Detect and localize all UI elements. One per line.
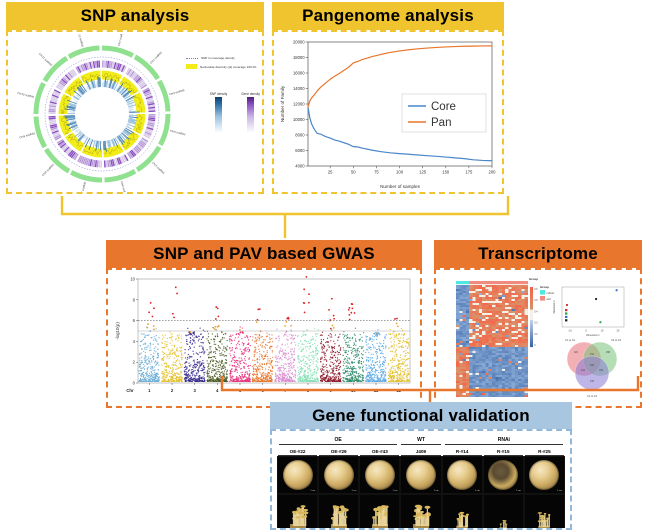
mushroom-cluster: [363, 500, 397, 530]
panel-pangenome-header: Pangenome analysis: [272, 2, 504, 30]
manhattan-svg: 0246810 -log10(p)Chr123456789101112: [112, 273, 416, 403]
svg-text:18000: 18000: [293, 55, 305, 60]
pangenome-legend: CorePan: [402, 94, 486, 132]
panel-snp-analysis: SNP analysis Chr1 scaffoldChr2 scaffoldC…: [6, 2, 264, 194]
svg-text:4: 4: [133, 339, 136, 344]
circos-legend-block-label: Nucleotide diversity (pi) coverage 100 K…: [200, 65, 256, 69]
svg-text:Chr11 scaffold: Chr11 scaffold: [38, 52, 53, 67]
svg-text:6: 6: [133, 318, 136, 323]
circos-legend-line-label: SNP in coverage density: [201, 56, 235, 60]
svg-text:200: 200: [489, 170, 497, 175]
pangenome-line-chart: 4000600080001000012000140001600018000200…: [274, 32, 502, 192]
colorbar-gene-gradient: [247, 97, 254, 133]
svg-text:6000: 6000: [295, 148, 305, 153]
svg-text:Pan: Pan: [431, 117, 451, 129]
svg-text:Chr7 scaffold: Chr7 scaffold: [79, 181, 87, 194]
validation-sample-header-row: OE-#22OE-#29OE-#43J409R-#14R-#15R-#25: [277, 445, 565, 456]
panel-gwas-header: SNP and PAV based GWAS: [106, 240, 422, 268]
circos-legend-line-row: SNP in coverage density: [186, 56, 258, 60]
mushroom-cluster: [486, 500, 520, 530]
validation-fruitbody-photo: 1 cm: [318, 494, 359, 530]
validation-plate-photo: 1 cm: [524, 456, 565, 494]
validation-group-oe: OE: [279, 437, 397, 445]
validation-group-rnai: RNAi: [445, 437, 563, 445]
validation-fruitbody-row: 1 cm1 cm1 cm1 cm1 cm1 cm1 cm: [277, 494, 565, 530]
svg-text:12000: 12000: [293, 102, 305, 107]
scale-bar-label: 1 cm: [557, 528, 562, 530]
svg-text:25: 25: [328, 170, 333, 175]
svg-text:6: 6: [261, 388, 264, 393]
svg-text:3: 3: [193, 388, 196, 393]
svg-text:Chr: Chr: [126, 388, 134, 393]
scale-bar-label: 1 cm: [310, 528, 315, 530]
svg-text:125: 125: [419, 170, 427, 175]
svg-text:Chr6 scaffold: Chr6 scaffold: [120, 181, 128, 194]
panel-transcriptome-header: Transcriptome: [434, 240, 642, 268]
colorbar-snp-gradient: [215, 97, 222, 133]
scale-bar-label: 1 cm: [393, 528, 398, 530]
svg-text:Number of Family: Number of Family: [280, 85, 285, 122]
svg-text:100: 100: [396, 170, 404, 175]
culture-dish: [488, 460, 518, 490]
scale-bar-label: 1 cm: [393, 490, 398, 492]
svg-text:Chr10 scaffold: Chr10 scaffold: [17, 91, 35, 99]
svg-text:50: 50: [351, 170, 356, 175]
validation-plate-photo: 1 cm: [400, 456, 441, 494]
venn-diagram: 321268154412189276533C1 vs C2C2 vs C3C1 …: [565, 339, 622, 398]
panel-pangenome-analysis: Pangenome analysis 400060008000100001200…: [272, 2, 504, 194]
svg-text:8: 8: [307, 388, 310, 393]
validation-sample-label: OE-#29: [319, 449, 358, 456]
circos-plot: Chr1 scaffoldChr2 scaffoldChr3 scaffoldC…: [16, 34, 188, 194]
circos-svg: Chr1 scaffoldChr2 scaffoldChr3 scaffoldC…: [16, 34, 188, 194]
validation-plate-photo: 1 cm: [277, 456, 318, 494]
svg-text:Chr3 scaffold: Chr3 scaffold: [169, 88, 186, 96]
validation-sample-label: R-#14: [443, 449, 482, 456]
mushroom-cluster: [322, 500, 356, 530]
panel-validation-body: OEWTRNAi OE-#22OE-#29OE-#43J409R-#14R-#1…: [270, 429, 572, 530]
validation-sample-label: OE-#22: [278, 449, 317, 456]
svg-text:10: 10: [351, 388, 356, 393]
connector-top-to-gwas: [60, 190, 510, 240]
dotted-line-icon: [186, 58, 198, 59]
panel-validation-header: Gene functional validation: [270, 402, 572, 429]
svg-text:0: 0: [133, 381, 136, 386]
scale-bar-label: 1 cm: [475, 528, 480, 530]
svg-text:1: 1: [148, 388, 151, 393]
scale-bar-label: 1 cm: [557, 490, 562, 492]
svg-text:2: 2: [171, 388, 174, 393]
svg-text:5: 5: [239, 388, 242, 393]
svg-text:Core: Core: [431, 101, 456, 113]
circos-ring-pi-diversity: [59, 71, 146, 158]
mushroom-cluster: [445, 500, 479, 530]
panel-snp-header: SNP analysis: [6, 2, 264, 30]
scale-bar-label: 1 cm: [475, 490, 480, 492]
circos-legend-block-row: Nucleotide diversity (pi) coverage 100 K…: [186, 64, 258, 69]
scale-bar-label: 1 cm: [516, 528, 521, 530]
validation-plate-photo: 1 cm: [318, 456, 359, 494]
culture-dish: [365, 460, 395, 490]
culture-dish: [283, 460, 313, 490]
svg-text:75: 75: [374, 170, 379, 175]
colorbar-snp-title: SNP density: [210, 92, 227, 96]
colorbar-gene-density: Gene density: [241, 92, 260, 133]
validation-sample-label: J409: [401, 449, 440, 456]
validation-fruitbody-photo: 1 cm: [442, 494, 483, 530]
scale-bar-label: 1 cm: [352, 490, 357, 492]
svg-text:-log10(p): -log10(p): [115, 322, 120, 340]
svg-text:8000: 8000: [295, 133, 305, 138]
svg-text:Chr5 scaffold: Chr5 scaffold: [151, 161, 166, 175]
svg-text:4: 4: [216, 388, 219, 393]
culture-dish: [447, 460, 477, 490]
validation-group-header-row: OEWTRNAi: [277, 434, 565, 445]
svg-text:7: 7: [284, 388, 287, 393]
svg-text:14000: 14000: [293, 86, 305, 91]
svg-text:Chr1 scaffold: Chr1 scaffold: [117, 34, 125, 46]
scale-bar-label: 1 cm: [352, 528, 357, 530]
culture-dish: [324, 460, 354, 490]
panel-transcriptome-body: 0.60.50.40.30.20GroupGroupcultivarwild D…: [434, 268, 642, 408]
svg-text:2: 2: [133, 360, 136, 365]
panel-gwas-body: 0246810 -log10(p)Chr123456789101112: [106, 268, 422, 408]
mushroom-cluster: [527, 500, 561, 530]
validation-sample-label: R-#25: [525, 449, 564, 456]
scatter-plot: Dimension 1Dimension 2-1001020: [553, 287, 624, 337]
scale-bar-label: 1 cm: [434, 490, 439, 492]
transcriptome-svg: 0.60.50.40.30.20GroupGroupcultivarwild D…: [440, 273, 636, 403]
svg-text:Number of samples: Number of samples: [380, 184, 421, 189]
svg-text:10: 10: [130, 277, 135, 282]
panel-gene-functional-validation: Gene functional validation OEWTRNAi OE-#…: [270, 402, 572, 530]
manhattan-plot: 0246810 -log10(p)Chr123456789101112: [112, 273, 416, 403]
mushroom-cluster: [281, 500, 315, 530]
panel-pangenome-body: 4000600080001000012000140001600018000200…: [272, 30, 504, 194]
svg-text:8: 8: [133, 297, 136, 302]
validation-fruitbody-photo: 1 cm: [277, 494, 318, 530]
panel-gwas: SNP and PAV based GWAS 0246810 -log10(p)…: [106, 240, 422, 408]
panel-transcriptome: Transcriptome 0.60.50.40.30.20GroupGroup…: [434, 240, 642, 408]
validation-plate-photo: 1 cm: [359, 456, 400, 494]
validation-group-wt: WT: [401, 437, 440, 445]
transcriptome-figures: 0.60.50.40.30.20GroupGroupcultivarwild D…: [440, 273, 636, 403]
circos-ring-ideogram: [34, 46, 171, 183]
yellow-swatch-icon: [186, 64, 197, 69]
mushroom-cluster: [404, 500, 438, 530]
svg-text:175: 175: [465, 170, 473, 175]
svg-text:20000: 20000: [293, 40, 305, 45]
scale-bar-label: 1 cm: [434, 528, 439, 530]
validation-plate-photo: 1 cm: [483, 456, 524, 494]
validation-fruitbody-photo: 1 cm: [400, 494, 441, 530]
svg-text:150: 150: [442, 170, 450, 175]
svg-text:Chr12 scaffold: Chr12 scaffold: [76, 34, 85, 48]
svg-text:9: 9: [329, 388, 332, 393]
svg-text:Chr8 scaffold: Chr8 scaffold: [41, 163, 55, 178]
validation-sample-label: OE-#43: [360, 449, 399, 456]
colorbar-gene-title: Gene density: [241, 92, 260, 96]
validation-plate-photo: 1 cm: [442, 456, 483, 494]
svg-text:Chr2 scaffold: Chr2 scaffold: [149, 50, 163, 65]
svg-text:10000: 10000: [293, 117, 305, 122]
heatmap-legend: 0.60.50.40.30.20GroupGroupcultivarwild: [529, 277, 554, 347]
circos-legend: SNP in coverage density Nucleotide diver…: [186, 56, 258, 73]
validation-grid: OEWTRNAi OE-#22OE-#29OE-#43J409R-#14R-#1…: [277, 434, 565, 525]
validation-fruitbody-photo: 1 cm: [483, 494, 524, 530]
scale-bar-label: 1 cm: [310, 490, 315, 492]
scale-bar-label: 1 cm: [516, 490, 521, 492]
validation-fruitbody-photo: 1 cm: [524, 494, 565, 530]
svg-text:4000: 4000: [295, 164, 305, 169]
heatmap: [456, 281, 528, 397]
svg-text:11: 11: [374, 388, 379, 393]
culture-dish: [406, 460, 436, 490]
svg-text:Chr9 scaffold: Chr9 scaffold: [19, 131, 36, 139]
panel-snp-body: Chr1 scaffoldChr2 scaffoldChr3 scaffoldC…: [6, 30, 264, 194]
colorbar-snp-density: SNP density: [210, 92, 227, 133]
validation-dish-row: 1 cm1 cm1 cm1 cm1 cm1 cm1 cm: [277, 456, 565, 494]
validation-sample-label: R-#15: [484, 449, 523, 456]
circos-colorbars: SNP density Gene density: [210, 92, 260, 133]
svg-text:Chr4 scaffold: Chr4 scaffold: [170, 129, 187, 137]
culture-dish: [529, 460, 559, 490]
svg-text:16000: 16000: [293, 71, 305, 76]
validation-fruitbody-photo: 1 cm: [359, 494, 400, 530]
svg-text:12: 12: [396, 388, 401, 393]
